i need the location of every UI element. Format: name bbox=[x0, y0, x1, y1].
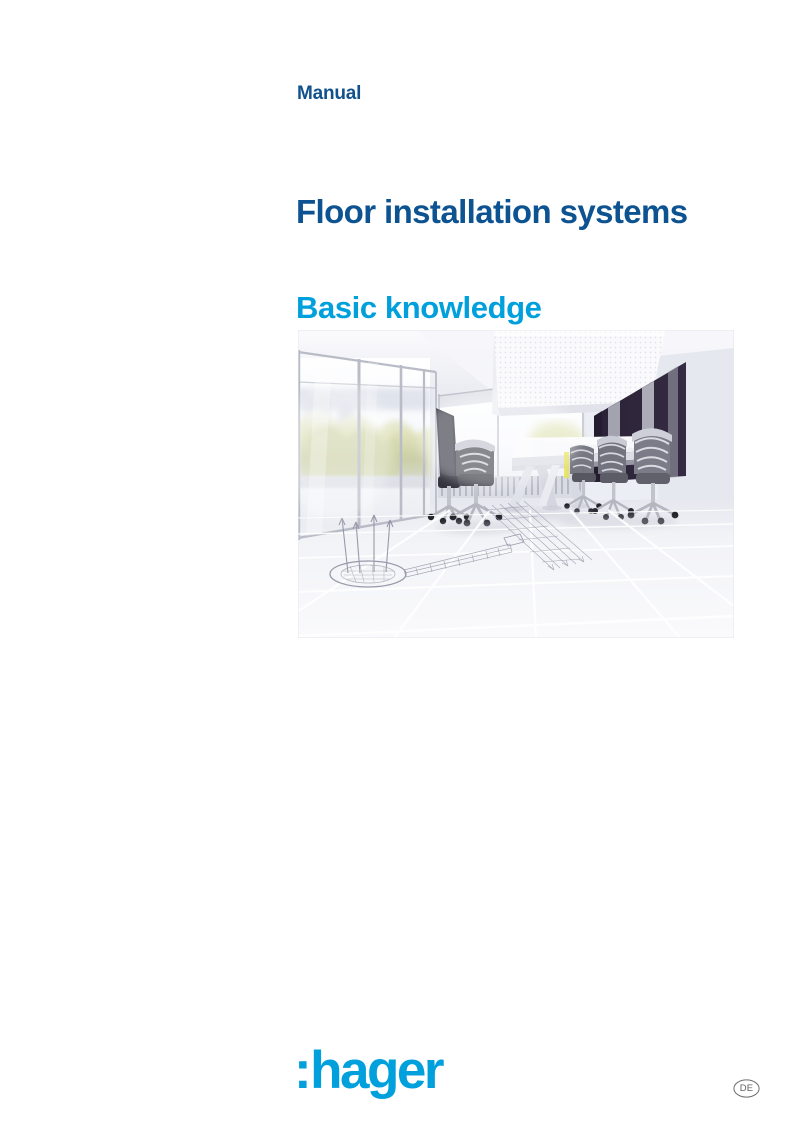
document-type-label: Manual bbox=[297, 83, 361, 105]
page-title: Floor installation systems bbox=[296, 195, 688, 228]
page-subtitle: Basic knowledge bbox=[296, 292, 542, 323]
hager-logo: :hager bbox=[294, 1040, 464, 1100]
hager-wordmark: :hager bbox=[294, 1040, 464, 1100]
cover-page: Manual Floor installation systems Basic … bbox=[0, 0, 802, 1134]
language-badge-label: DE bbox=[733, 1079, 760, 1098]
language-badge: DE bbox=[733, 1079, 760, 1098]
hager-logo-name: hager bbox=[310, 1044, 442, 1097]
hager-logo-colon: : bbox=[294, 1044, 309, 1097]
cover-image bbox=[298, 330, 734, 638]
